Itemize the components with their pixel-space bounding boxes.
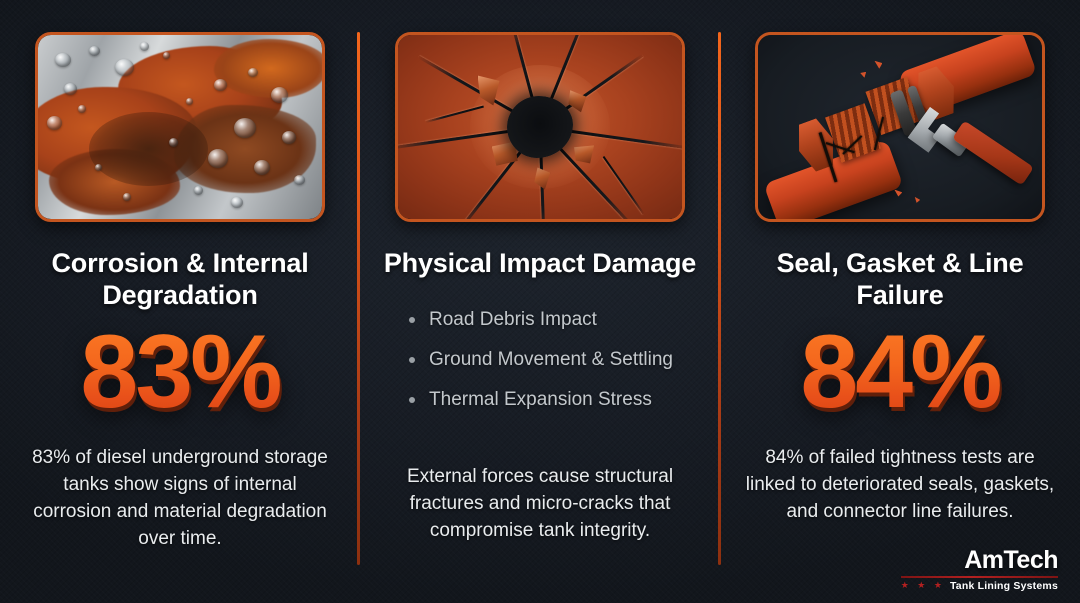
logo-stars-icon: ★ ★ ★ (901, 581, 945, 590)
column-corrosion: Corrosion & Internal Degradation 83% 83%… (0, 32, 360, 603)
impact-cause-list: Road Debris Impact Ground Movement & Set… (407, 310, 673, 430)
stat-value-seal: 84% (800, 319, 999, 425)
list-item: Ground Movement & Settling (407, 350, 673, 369)
image-card-cracked-pipe-wrench (755, 32, 1045, 222)
column-description-seal: 84% of failed tightness tests are linked… (745, 445, 1055, 526)
logo-tagline: Tank Lining Systems (950, 581, 1058, 592)
image-card-rusted-metal (35, 32, 325, 222)
logo-name: AmTech (901, 548, 1058, 573)
stat-value-corrosion: 83% (80, 319, 279, 425)
column-heading-seal: Seal, Gasket & Line Failure (740, 248, 1060, 311)
columns-container: Corrosion & Internal Degradation 83% 83%… (0, 0, 1080, 603)
logo-divider-rule (901, 576, 1058, 578)
image-card-impact-fracture (395, 32, 685, 222)
column-description-corrosion: 83% of diesel underground storage tanks … (25, 445, 335, 553)
infographic-canvas: Corrosion & Internal Degradation 83% 83%… (0, 0, 1080, 603)
list-item: Road Debris Impact (407, 310, 673, 329)
column-heading-corrosion: Corrosion & Internal Degradation (20, 248, 340, 311)
column-description-impact: External forces cause structural fractur… (385, 464, 695, 545)
column-seal-gasket: Seal, Gasket & Line Failure 84% 84% of f… (720, 32, 1080, 603)
column-physical-impact: Physical Impact Damage Road Debris Impac… (360, 32, 720, 603)
list-item: Thermal Expansion Stress (407, 390, 673, 409)
column-heading-impact: Physical Impact Damage (384, 248, 696, 280)
brand-logo: AmTech ★ ★ ★ Tank Lining Systems (901, 548, 1058, 592)
